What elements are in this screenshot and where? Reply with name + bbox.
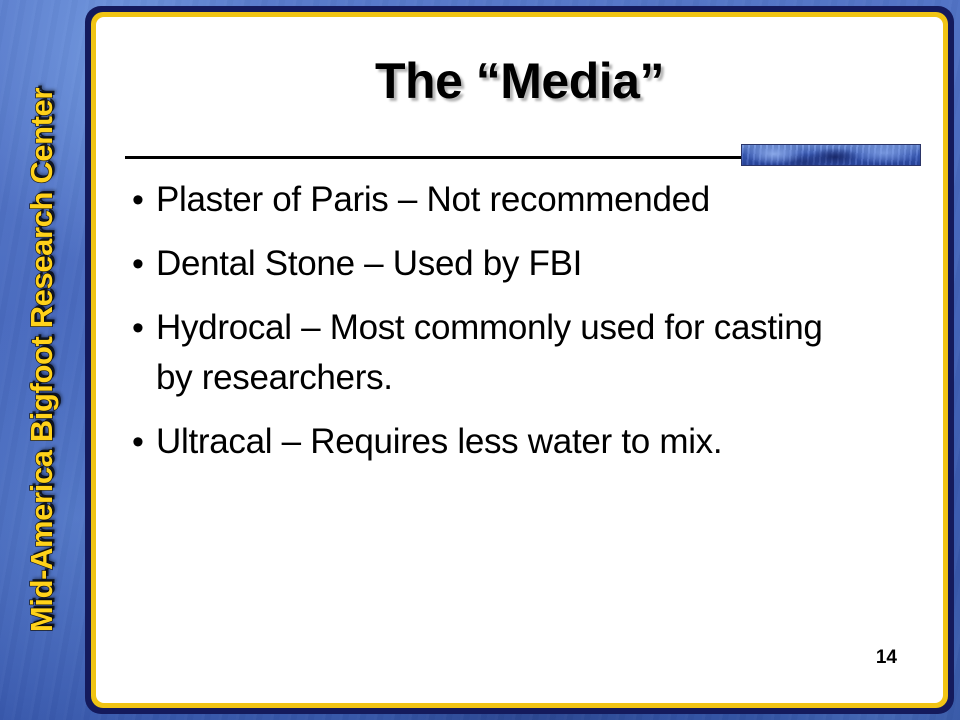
list-item: • Plaster of Paris – Not recommended — [126, 175, 903, 225]
presentation-slide: Mid-America Bigfoot Research Center The … — [0, 0, 960, 720]
list-item-text: Plaster of Paris – Not recommended — [156, 175, 856, 225]
page-number: 14 — [876, 647, 897, 669]
title-divider-rule — [125, 156, 747, 159]
bullet-marker-icon: • — [126, 239, 156, 289]
list-item: • Ultracal – Requires less water to mix. — [126, 417, 903, 467]
bullet-marker-icon: • — [126, 175, 156, 225]
slide-frame-navy-border: The “Media” • Plaster of Paris – Not rec… — [85, 6, 954, 714]
list-item-text: Dental Stone – Used by FBI — [156, 239, 856, 289]
sidebar-vertical-title: Mid-America Bigfoot Research Center — [0, 0, 84, 720]
sidebar-title-text: Mid-America Bigfoot Research Center — [24, 88, 60, 632]
slide-content-area: The “Media” • Plaster of Paris – Not rec… — [96, 17, 943, 703]
title-divider-blue-block — [741, 144, 921, 166]
bullet-marker-icon: • — [126, 303, 156, 353]
bullet-list: • Plaster of Paris – Not recommended • D… — [126, 175, 903, 481]
slide-title: The “Media” — [96, 55, 943, 108]
bullet-marker-icon: • — [126, 417, 156, 467]
slide-frame-gold-border: The “Media” • Plaster of Paris – Not rec… — [91, 12, 948, 708]
list-item: • Dental Stone – Used by FBI — [126, 239, 903, 289]
list-item-text: Ultracal – Requires less water to mix. — [156, 417, 856, 467]
list-item: • Hydrocal – Most commonly used for cast… — [126, 303, 903, 403]
list-item-text: Hydrocal – Most commonly used for castin… — [156, 303, 856, 403]
